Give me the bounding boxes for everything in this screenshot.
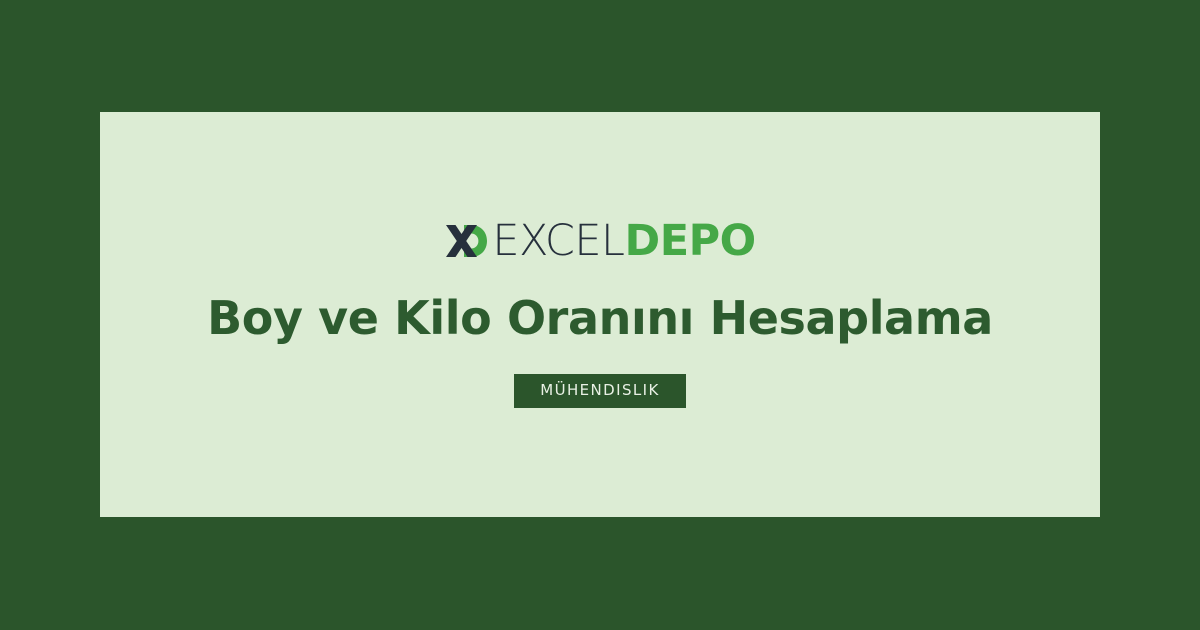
brand-word-depo: DEPO bbox=[625, 216, 756, 266]
brand-wordmark: EXCELDEPO bbox=[492, 218, 755, 264]
content-card: EXCELDEPO Boy ve Kilo Oranını Hesaplama … bbox=[100, 112, 1100, 517]
brand-word-excel: EXCEL bbox=[492, 216, 624, 266]
share-card-canvas: EXCELDEPO Boy ve Kilo Oranını Hesaplama … bbox=[0, 0, 1200, 630]
brand-logo: EXCELDEPO bbox=[444, 217, 755, 265]
page-title: Boy ve Kilo Oranını Hesaplama bbox=[177, 293, 1023, 345]
xd-monogram-icon bbox=[444, 218, 490, 264]
category-badge: MÜHENDISLIK bbox=[514, 374, 685, 408]
